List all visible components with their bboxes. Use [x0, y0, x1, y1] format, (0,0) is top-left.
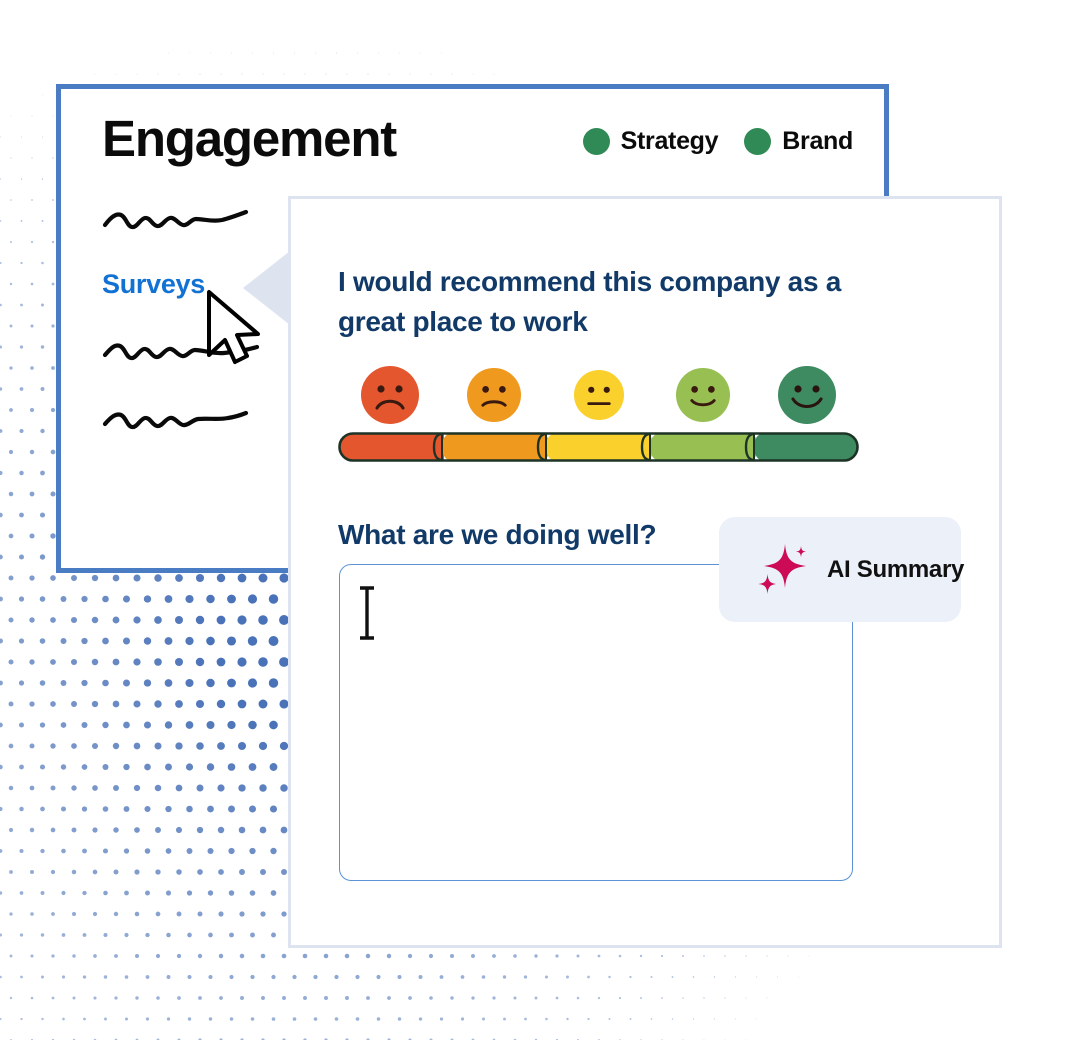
sparkle-icon — [751, 540, 813, 600]
face-unhappy-icon — [467, 368, 521, 422]
legend: Strategy Brand — [583, 127, 853, 156]
i-beam-icon — [356, 585, 378, 641]
ai-summary-label: AI Summary — [827, 556, 964, 584]
likert-option-4[interactable] — [651, 368, 755, 422]
circle-dot-icon — [744, 128, 771, 155]
likert-scale-bar[interactable] — [338, 432, 859, 462]
legend-item-brand[interactable]: Brand — [744, 127, 853, 156]
likert-option-2[interactable] — [442, 368, 546, 422]
page-title: Engagement — [102, 109, 396, 168]
face-neutral-icon — [574, 370, 624, 420]
likert-option-1[interactable] — [338, 366, 442, 424]
ai-summary-button[interactable]: AI Summary — [719, 517, 961, 622]
squiggle-line-icon — [102, 199, 252, 235]
likert-option-5[interactable] — [755, 366, 859, 424]
squiggle-line-icon — [102, 399, 252, 435]
face-very-happy-icon — [778, 366, 836, 424]
sidebar-item-surveys[interactable]: Surveys — [102, 269, 205, 300]
mouse-pointer-icon — [204, 289, 264, 367]
legend-item-label: Strategy — [621, 127, 719, 156]
legend-item-label: Brand — [782, 127, 853, 156]
screenshot-stage: Engagement Strategy Brand Surveys — [0, 0, 1080, 1040]
open-question-label: What are we doing well? — [338, 519, 656, 551]
face-very-unhappy-icon — [361, 366, 419, 424]
survey-question: I would recommend this company as a grea… — [338, 262, 848, 342]
circle-dot-icon — [583, 128, 610, 155]
legend-item-strategy[interactable]: Strategy — [583, 127, 719, 156]
likert-option-3[interactable] — [546, 370, 650, 420]
likert-scale — [338, 362, 859, 462]
likert-faces-row — [338, 362, 859, 428]
face-happy-icon — [676, 368, 730, 422]
